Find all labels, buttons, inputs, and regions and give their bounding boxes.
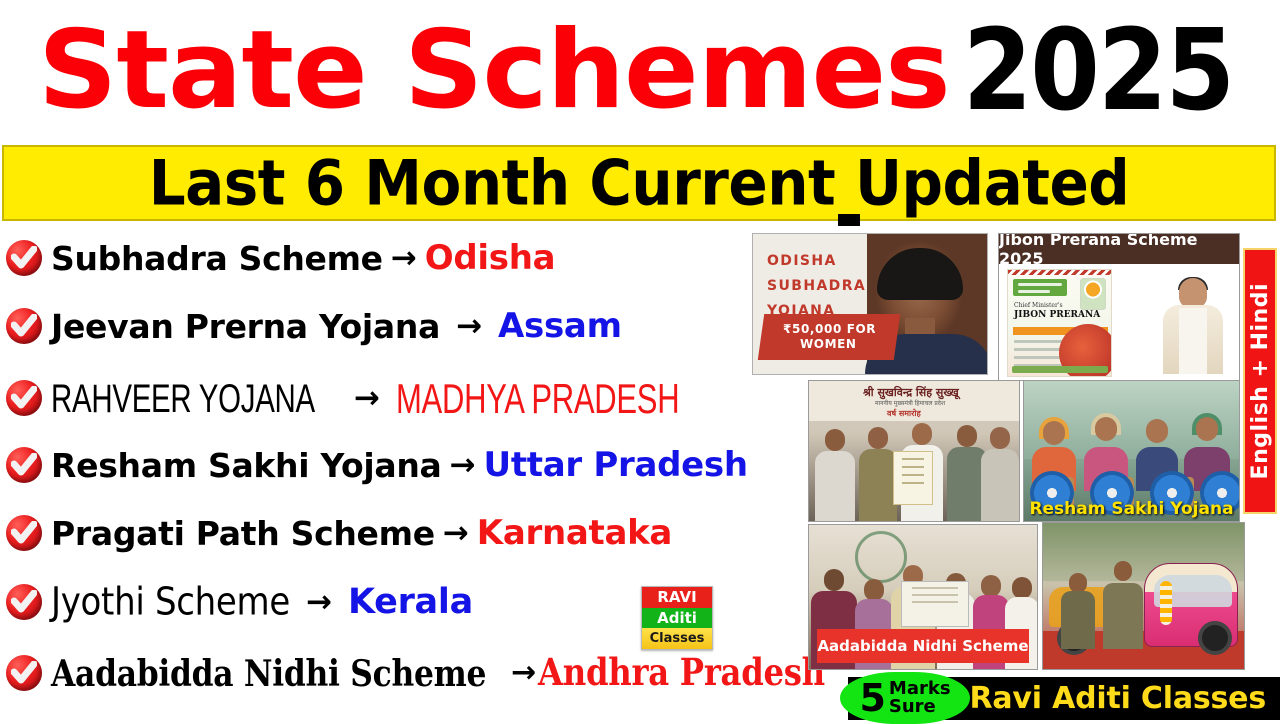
scheme-name: RAHVEER YOJANA (51, 378, 315, 418)
aadabidda-caption: Aadabidda Nidhi Scheme (817, 637, 1028, 655)
person-head (1012, 577, 1032, 599)
person-head (990, 427, 1010, 449)
person-head (957, 425, 977, 447)
person-figure (981, 427, 1019, 521)
page-title: State Schemes 2025 (0, 6, 1280, 136)
person-hair (877, 248, 963, 300)
poster-emblem-icon (1080, 278, 1106, 310)
badge-line-2: Sure (889, 698, 951, 716)
list-item: Pragati Path Scheme → Karnataka (6, 505, 672, 561)
award-certificate (893, 451, 933, 505)
logo-line-classes: Classes (642, 628, 712, 649)
gallery-image-resham-sakhi: Resham Sakhi Yojana (1023, 380, 1240, 522)
person-figure (859, 427, 897, 521)
language-tag-text: English + Hindi (1248, 283, 1273, 479)
poster-zigzag-border (1008, 270, 1111, 275)
badge-number: 5 (859, 679, 885, 717)
poster-title: JIBON PRERANA (1014, 310, 1100, 320)
gallery-image-aadabidda-nidhi: Aadabidda Nidhi Scheme (808, 524, 1038, 670)
himachal-banner-sub: माननीय मुख्यमंत्री हिमाचल प्रदेश (875, 399, 945, 407)
badge-text: Marks Sure (889, 680, 951, 717)
banner-tick-mark (838, 214, 860, 226)
person-head (1095, 417, 1117, 441)
odisha-amount-ribbon: ₹50,000 FOR WOMEN (758, 314, 900, 360)
person-head (1146, 419, 1168, 443)
list-item: RAHVEER YOJANA → MADHYA PRADESH (6, 370, 697, 426)
poster-subtitle: Chief Minister's (1014, 302, 1063, 309)
poster-footer-bar (1012, 366, 1108, 373)
odisha-line-2: SUBHADRA (767, 279, 866, 293)
flower-garland (1160, 581, 1172, 625)
gallery-image-odisha-subhadra: ODISHA SUBHADRA YOJANA ₹50,000 FOR WOMEN (752, 233, 988, 375)
gallery-image-himachal-award: श्री सुखविन्द्र सिंह सुख्खू माननीय मुख्य… (808, 380, 1020, 522)
himachal-banner-red: वर्ष समारोह (887, 408, 921, 419)
rickshaw-wheel (1198, 621, 1232, 655)
himachal-banner-title: श्री सुखविन्द्र सिंह सुख्खू (863, 385, 959, 400)
jibon-person-photo (1157, 278, 1229, 374)
person-vest (1179, 308, 1207, 374)
himachal-stage-banner: श्री सुखविन्द्र सिंह सुख्खू माननीय मुख्य… (809, 381, 1019, 421)
resham-caption: Resham Sakhi Yojana (1024, 499, 1239, 519)
person-head (1114, 561, 1132, 581)
scheme-state: Karnataka (477, 516, 672, 550)
arrow-icon: → (383, 243, 425, 274)
check-icon (6, 308, 42, 344)
check-icon (6, 655, 42, 691)
jibon-header-bar: Jibon Prerana Scheme 2025 (999, 234, 1239, 264)
arrow-icon: → (435, 518, 477, 549)
poster-green-tag (1013, 279, 1067, 296)
person-body (859, 449, 897, 521)
jibon-body: Chief Minister's JIBON PRERANA (999, 264, 1239, 380)
person-head (824, 569, 844, 591)
person-head (1196, 417, 1218, 441)
odisha-line-1: ODISHA (767, 254, 866, 268)
scheme-state: Kerala (348, 585, 473, 620)
aadabidda-caption-bar: Aadabidda Nidhi Scheme (817, 629, 1029, 663)
person-head (868, 427, 888, 449)
arrow-icon: → (440, 311, 498, 342)
arrow-icon: → (509, 658, 538, 688)
scheme-state: Odisha (425, 241, 555, 275)
scheme-name: Aadabidda Nidhi Scheme (51, 655, 486, 691)
five-marks-sure-badge: 5 Marks Sure (840, 672, 970, 724)
award-certificate (901, 581, 969, 627)
odisha-ribbon-line-2: WOMEN (800, 337, 857, 352)
list-item: Jyothi Scheme → Kerala (6, 574, 473, 630)
check-icon (6, 447, 42, 483)
title-year-text: 2025 (963, 15, 1233, 127)
list-item: Aadabidda Nidhi Scheme → Andhra Pradesh (6, 645, 840, 701)
odisha-ribbon-line-1: ₹50,000 FOR (784, 322, 877, 337)
person-figure (1061, 573, 1095, 649)
person-body (981, 449, 1019, 521)
scheme-name: Pragati Path Scheme (51, 517, 435, 550)
person-head (912, 423, 932, 445)
scheme-name: Jeevan Prerna Yojana (51, 310, 440, 343)
gallery-image-jibon-prerana: Jibon Prerana Scheme 2025 Chief Minister… (998, 233, 1240, 381)
language-tag: English + Hindi (1243, 248, 1277, 514)
jibon-header-text: Jibon Prerana Scheme 2025 (999, 233, 1239, 268)
brand-name: Ravi Aditi Classes (969, 681, 1266, 716)
list-item: Subhadra Scheme → Odisha (6, 230, 555, 286)
poster-root: State Schemes 2025 Last 6 Month Current … (0, 0, 1280, 720)
scheme-state: Assam (498, 309, 622, 343)
title-main-text: State Schemes (38, 17, 950, 125)
person-figure (815, 429, 855, 521)
person-head (1043, 421, 1065, 445)
scheme-name: Resham Sakhi Yojana (51, 449, 442, 482)
scheme-list: Subhadra Scheme → Odisha Jeevan Prerna Y… (0, 228, 850, 720)
list-item: Jeevan Prerna Yojana → Assam (6, 298, 622, 354)
person-body (1061, 591, 1095, 649)
logo-line-ravi: RAVI (642, 587, 712, 608)
person-head (1179, 278, 1207, 308)
gallery-image-auto-rickshaw (1042, 522, 1245, 670)
image-gallery: ODISHA SUBHADRA YOJANA ₹50,000 FOR WOMEN… (752, 230, 1242, 670)
ravi-aditi-logo: RAVI Aditi Classes (641, 586, 713, 650)
scheme-name: Jyothi Scheme (51, 583, 290, 621)
person-body (1103, 583, 1143, 649)
list-item: Resham Sakhi Yojana → Uttar Pradesh (6, 437, 748, 493)
scheme-state: MADHYA PRADESH (396, 377, 679, 418)
person-head (864, 579, 884, 601)
check-icon (6, 515, 42, 551)
person-head (981, 575, 1001, 597)
subtitle-banner-text: Last 6 Month Current Updated (149, 152, 1130, 215)
person-head (825, 429, 845, 451)
subtitle-banner: Last 6 Month Current Updated (2, 145, 1276, 221)
jibon-poster: Chief Minister's JIBON PRERANA (1007, 269, 1112, 377)
scheme-state: Uttar Pradesh (484, 448, 748, 482)
person-figure (1103, 561, 1143, 649)
arrow-icon: → (442, 450, 484, 481)
check-icon (6, 584, 42, 620)
check-icon (6, 240, 42, 276)
logo-line-aditi: Aditi (642, 608, 712, 629)
arrow-icon: → (290, 587, 348, 618)
person-head (1069, 573, 1087, 593)
check-icon (6, 380, 42, 416)
arrow-icon: → (338, 383, 396, 414)
person-body (815, 451, 855, 521)
scheme-name: Subhadra Scheme (51, 242, 383, 275)
